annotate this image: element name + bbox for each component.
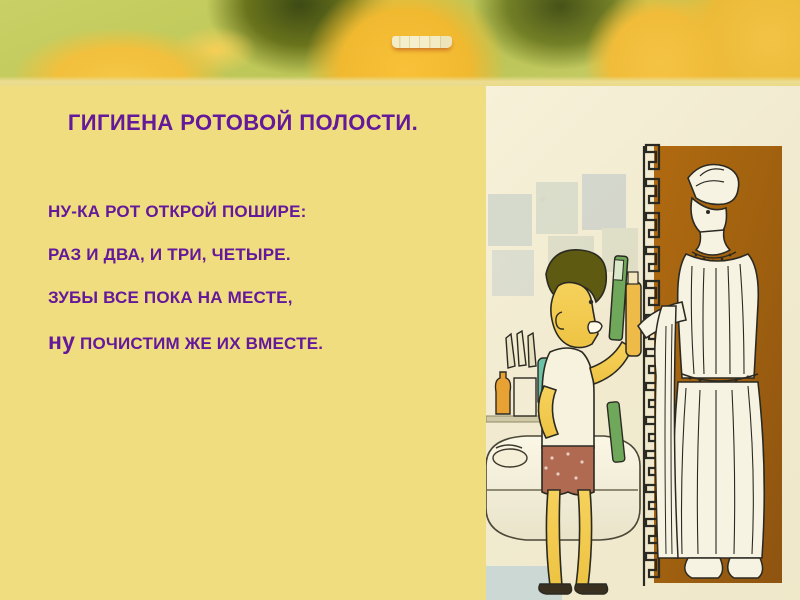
verse-line-2: РАЗ И ДВА, И ТРИ, ЧЕТЫРЕ.: [48, 233, 468, 276]
verse-line-4-lead: ну: [48, 328, 75, 354]
verse-line-1: НУ-КА РОТ ОТКРОЙ ПОШИРЕ:: [48, 190, 468, 233]
header-fade: [0, 76, 800, 86]
verse-line-3: ЗУБЫ ВСЕ ПОКА НА МЕСТЕ,: [48, 276, 468, 319]
verse-line-4-rest: ПОЧИСТИМ ЖЕ ИХ ВМЕСТЕ.: [80, 334, 323, 353]
illustration-panel: [486, 86, 800, 600]
boy-and-goddess-drawing: [486, 86, 800, 600]
text-column: ГИГИЕНА РОТОВОЙ ПОЛОСТИ. НУ-КА РОТ ОТКРО…: [0, 86, 486, 600]
header-photo-banner: [0, 0, 800, 86]
verse-line-4: ну ПОЧИСТИМ ЖЕ ИХ ВМЕСТЕ.: [48, 319, 468, 366]
smile-teeth-detail: [392, 36, 452, 48]
slide: ГИГИЕНА РОТОВОЙ ПОЛОСТИ. НУ-КА РОТ ОТКРО…: [0, 0, 800, 600]
verse-block: НУ-КА РОТ ОТКРОЙ ПОШИРЕ: РАЗ И ДВА, И ТР…: [48, 190, 468, 366]
page-title: ГИГИЕНА РОТОВОЙ ПОЛОСТИ.: [28, 108, 458, 137]
